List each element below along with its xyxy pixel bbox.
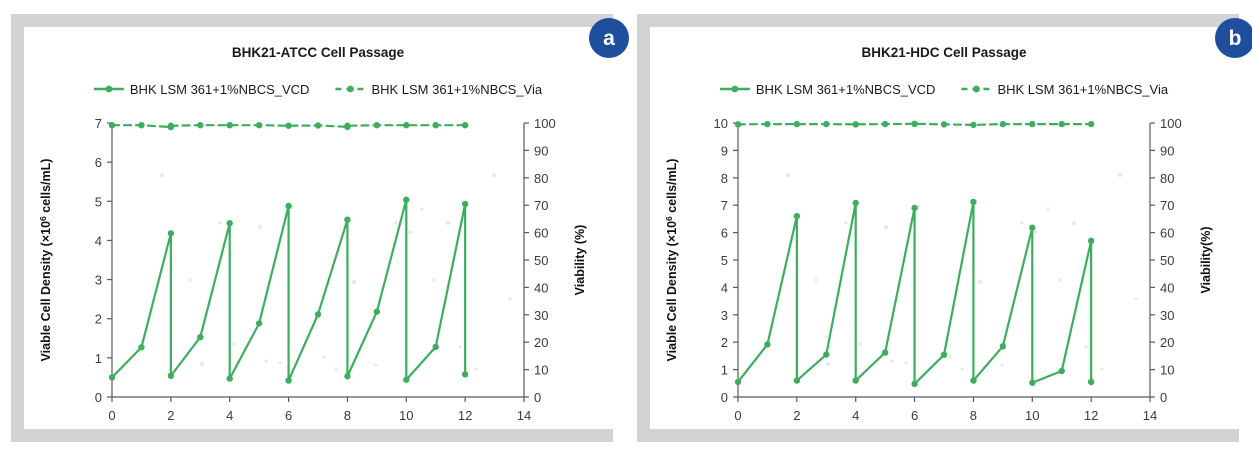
y2-tick-label: 80 (1160, 171, 1174, 186)
data-point (1000, 343, 1006, 349)
data-point (227, 375, 233, 381)
data-point (256, 320, 262, 326)
x-tick-label: 0 (734, 408, 741, 423)
data-point (285, 123, 291, 129)
data-point (109, 122, 115, 128)
x-tick-label: 2 (167, 408, 174, 423)
chart-a: BHK21-ATCC Cell PassageBHK LSM 361+1%NBC… (24, 27, 613, 429)
data-point (256, 122, 262, 128)
y-axis-left: 012345678910 (714, 116, 738, 405)
panel-b: BHK21-HDC Cell PassageBHK LSM 361+1%NBCS… (637, 14, 1239, 442)
y2-tick-label: 50 (534, 253, 548, 268)
x-tick-label: 14 (517, 408, 531, 423)
series-line (112, 200, 465, 381)
data-point (1059, 121, 1065, 127)
y-tick-label: 2 (721, 335, 728, 350)
data-point (285, 203, 291, 209)
data-point (1029, 380, 1035, 386)
y2-tick-label: 90 (1160, 143, 1174, 158)
data-point (1029, 224, 1035, 230)
data-point (374, 122, 380, 128)
data-point (433, 344, 439, 350)
y-tick-label: 6 (95, 155, 102, 170)
y-tick-label: 0 (95, 390, 102, 405)
legend-marker (973, 86, 980, 93)
chart-title: BHK21-HDC Cell Passage (861, 45, 1027, 60)
data-point (462, 122, 468, 128)
y2-tick-label: 40 (1160, 280, 1174, 295)
y-axis-right: 0102030405060708090100 (524, 116, 556, 405)
data-point (853, 121, 859, 127)
chart-b: BHK21-HDC Cell PassageBHK LSM 361+1%NBCS… (650, 27, 1239, 429)
data-series (735, 199, 1095, 387)
y2-tick-label: 30 (1160, 308, 1174, 323)
data-point (794, 213, 800, 219)
data-point (433, 122, 439, 128)
y2-tick-label: 70 (534, 198, 548, 213)
data-point (462, 201, 468, 207)
chart-svg: BHK21-HDC Cell PassageBHK LSM 361+1%NBCS… (650, 27, 1239, 429)
x-tick-label: 12 (1084, 408, 1098, 423)
data-point (794, 121, 800, 127)
chart-svg: BHK21-ATCC Cell PassageBHK LSM 361+1%NBC… (24, 27, 613, 429)
data-point (168, 123, 174, 129)
y2-tick-label: 50 (1160, 253, 1174, 268)
data-point (911, 205, 917, 211)
data-point (970, 199, 976, 205)
x-axis: 02468101214 (108, 397, 531, 423)
data-point (109, 374, 115, 380)
data-point (168, 230, 174, 236)
y2-axis-label: Viability (%) (573, 225, 587, 296)
data-point (853, 200, 859, 206)
y-axis-right: 0102030405060708090100 (1150, 116, 1182, 405)
y-axis-left: 01234567 (95, 116, 112, 405)
y-tick-label: 3 (721, 308, 728, 323)
y2-tick-label: 40 (534, 280, 548, 295)
x-tick-label: 6 (285, 408, 292, 423)
data-point (1088, 121, 1094, 127)
x-tick-label: 12 (458, 408, 472, 423)
y2-tick-label: 10 (1160, 363, 1174, 378)
x-axis: 02468101214 (734, 397, 1157, 423)
data-point (227, 122, 233, 128)
legend-label: BHK LSM 361+1%NBCS_VCD (130, 82, 310, 97)
data-point (168, 373, 174, 379)
data-point (970, 377, 976, 383)
data-point (403, 377, 409, 383)
data-point (403, 122, 409, 128)
y-tick-label: 5 (95, 194, 102, 209)
y-tick-label: 10 (714, 116, 728, 131)
x-tick-label: 14 (1143, 408, 1157, 423)
data-point (764, 341, 770, 347)
data-series (735, 121, 1095, 128)
y2-tick-label: 100 (1160, 116, 1182, 131)
legend-label: BHK LSM 361+1%NBCS_Via (997, 82, 1168, 97)
y-axis-label: Viable Cell Density (×106 cells/mL) (664, 159, 679, 362)
y2-tick-label: 70 (1160, 198, 1174, 213)
panel-b-badge: b (1215, 18, 1252, 58)
data-point (344, 123, 350, 129)
data-point (374, 308, 380, 314)
y-tick-label: 0 (721, 390, 728, 405)
data-point (1000, 121, 1006, 127)
y2-tick-label: 0 (1160, 390, 1167, 405)
data-series (109, 122, 469, 130)
data-point (882, 121, 888, 127)
chart-title: BHK21-ATCC Cell Passage (232, 45, 405, 60)
background-speckles (160, 173, 512, 371)
data-point (344, 373, 350, 379)
legend-marker (105, 86, 112, 93)
series-line (738, 202, 1091, 384)
y-tick-label: 4 (721, 280, 728, 295)
chart-legend: BHK LSM 361+1%NBCS_VCDBHK LSM 361+1%NBCS… (720, 82, 1169, 97)
data-point (1029, 121, 1035, 127)
y-tick-label: 1 (721, 363, 728, 378)
data-point (315, 122, 321, 128)
figure-root: BHK21-ATCC Cell PassageBHK LSM 361+1%NBC… (0, 0, 1252, 474)
data-point (227, 220, 233, 226)
y-axis-label: Viable Cell Density (×106 cells/mL) (38, 159, 53, 362)
legend-label: BHK LSM 361+1%NBCS_VCD (756, 82, 936, 97)
chart-axes (112, 123, 524, 397)
legend-item[interactable]: BHK LSM 361+1%NBCS_Via (335, 82, 542, 97)
y2-tick-label: 80 (534, 171, 548, 186)
data-point (823, 121, 829, 127)
y2-axis-label: Viability(%) (1199, 226, 1213, 293)
data-series (109, 197, 469, 384)
y2-tick-label: 20 (1160, 335, 1174, 350)
data-point (941, 352, 947, 358)
data-point (462, 371, 468, 377)
legend-marker (731, 86, 738, 93)
x-tick-label: 4 (852, 408, 859, 423)
x-tick-label: 8 (344, 408, 351, 423)
data-point (1088, 379, 1094, 385)
x-tick-label: 10 (399, 408, 413, 423)
data-point (1088, 238, 1094, 244)
x-tick-label: 0 (108, 408, 115, 423)
data-point (823, 351, 829, 357)
data-point (138, 122, 144, 128)
y2-tick-label: 0 (534, 390, 541, 405)
data-point (315, 311, 321, 317)
panel-a: BHK21-ATCC Cell PassageBHK LSM 361+1%NBC… (11, 14, 613, 442)
data-point (970, 122, 976, 128)
y2-tick-label: 90 (534, 143, 548, 158)
y-tick-label: 7 (95, 116, 102, 131)
panel-b-card: BHK21-HDC Cell PassageBHK LSM 361+1%NBCS… (650, 27, 1239, 429)
data-point (882, 349, 888, 355)
data-point (403, 197, 409, 203)
y-tick-label: 6 (721, 226, 728, 241)
data-point (197, 122, 203, 128)
y-tick-label: 9 (721, 143, 728, 158)
y-tick-label: 8 (721, 171, 728, 186)
legend-label: BHK LSM 361+1%NBCS_Via (371, 82, 542, 97)
data-point (735, 379, 741, 385)
legend-item[interactable]: BHK LSM 361+1%NBCS_VCD (720, 82, 936, 97)
x-tick-label: 6 (911, 408, 918, 423)
y2-tick-label: 20 (534, 335, 548, 350)
y2-tick-label: 30 (534, 308, 548, 323)
legend-item[interactable]: BHK LSM 361+1%NBCS_VCD (94, 82, 310, 97)
data-point (344, 216, 350, 222)
y-tick-label: 1 (95, 351, 102, 366)
y2-tick-label: 100 (534, 116, 556, 131)
y-tick-label: 2 (95, 312, 102, 327)
y-tick-label: 4 (95, 233, 102, 248)
legend-item[interactable]: BHK LSM 361+1%NBCS_Via (961, 82, 1168, 97)
data-point (735, 121, 741, 127)
data-point (853, 377, 859, 383)
data-point (941, 121, 947, 127)
legend-marker (347, 86, 354, 93)
y2-tick-label: 60 (534, 226, 548, 241)
panel-a-card: BHK21-ATCC Cell PassageBHK LSM 361+1%NBC… (24, 27, 613, 429)
y2-tick-label: 60 (1160, 226, 1174, 241)
data-point (197, 334, 203, 340)
x-tick-label: 2 (793, 408, 800, 423)
data-point (911, 381, 917, 387)
panel-a-badge: a (589, 18, 629, 58)
x-tick-label: 4 (226, 408, 233, 423)
data-point (285, 377, 291, 383)
data-point (1059, 368, 1065, 374)
y-tick-label: 7 (721, 198, 728, 213)
data-point (794, 377, 800, 383)
y-tick-label: 5 (721, 253, 728, 268)
x-tick-label: 10 (1025, 408, 1039, 423)
data-point (764, 121, 770, 127)
y2-tick-label: 10 (534, 363, 548, 378)
chart-legend: BHK LSM 361+1%NBCS_VCDBHK LSM 361+1%NBCS… (94, 82, 543, 97)
x-tick-label: 8 (970, 408, 977, 423)
data-point (138, 344, 144, 350)
y-tick-label: 3 (95, 273, 102, 288)
data-point (911, 121, 917, 127)
